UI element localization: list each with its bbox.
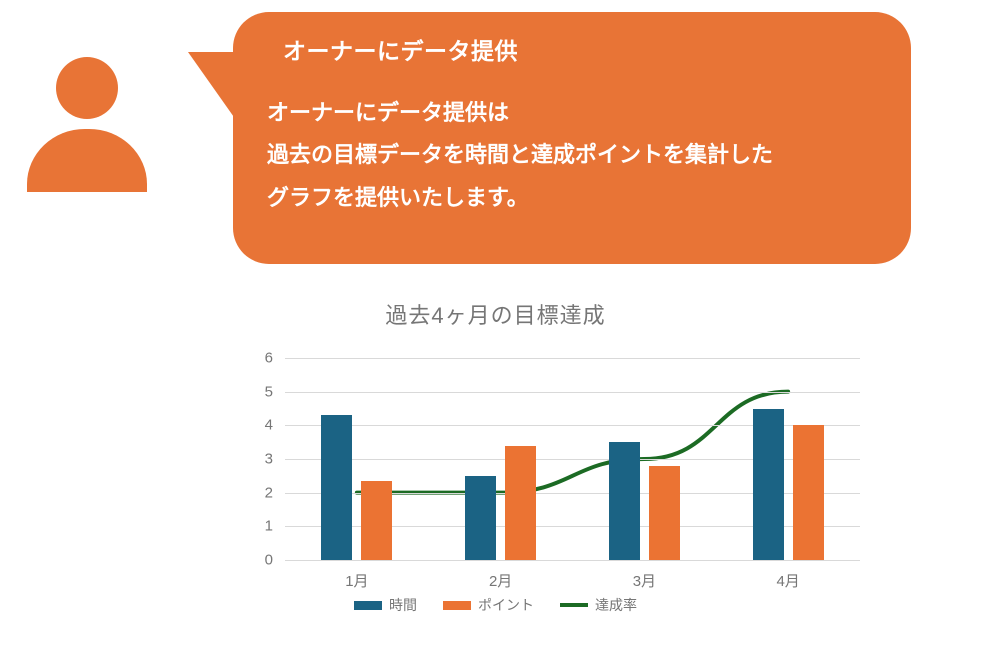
speech-bubble-tail (188, 52, 236, 120)
chart-bar (793, 425, 824, 560)
chart-gridline: 0 (285, 560, 860, 561)
chart-gridline: 5 (285, 392, 860, 393)
legend-item[interactable]: 時間 (354, 595, 417, 615)
y-axis-tick-label: 6 (265, 350, 273, 367)
speech-bubble: オーナーにデータ提供 オーナーにデータ提供は 過去の目標データを時間と達成ポイン… (233, 12, 911, 264)
speech-bubble-body-line: オーナーにデータ提供は (267, 92, 877, 135)
chart-bar (753, 409, 784, 561)
chart-bar (649, 466, 680, 560)
legend-item[interactable]: ポイント (443, 595, 534, 615)
chart-bar (361, 481, 392, 560)
chart-bar (465, 476, 496, 560)
speech-bubble-body-line: グラフを提供いたします。 (267, 177, 877, 220)
x-axis-tick-label: 1月 (345, 570, 368, 591)
chart-bar (321, 415, 352, 560)
chart-bar (609, 442, 640, 560)
legend-swatch-icon (354, 601, 382, 610)
x-axis-tick-label: 3月 (633, 570, 656, 591)
y-axis-tick-label: 3 (265, 451, 273, 468)
legend-label: ポイント (478, 595, 534, 615)
legend-swatch-icon (560, 603, 588, 607)
goal-achievement-chart: 過去4ヶ月の目標達成 01234561月2月3月4月 時間ポイント達成率 (0, 290, 991, 655)
chart-legend: 時間ポイント達成率 (0, 595, 991, 615)
chart-gridline: 6 (285, 358, 860, 359)
y-axis-tick-label: 2 (265, 484, 273, 501)
chart-line-path (357, 392, 788, 493)
x-axis-tick-label: 4月 (776, 570, 799, 591)
y-axis-tick-label: 1 (265, 518, 273, 535)
speech-bubble-body: オーナーにデータ提供は 過去の目標データを時間と達成ポイントを集計した グラフを… (267, 92, 877, 221)
person-body-icon (27, 129, 147, 192)
y-axis-tick-label: 4 (265, 417, 273, 434)
y-axis-tick-label: 5 (265, 383, 273, 400)
speech-bubble-body-line: 過去の目標データを時間と達成ポイントを集計した (267, 134, 877, 177)
speech-bubble-title: オーナーにデータ提供 (283, 38, 877, 66)
legend-label: 達成率 (595, 595, 637, 615)
person-head-icon (56, 57, 118, 119)
legend-label: 時間 (389, 595, 417, 615)
chart-plot-area: 01234561月2月3月4月 (285, 358, 860, 560)
chart-bar (505, 446, 536, 560)
y-axis-tick-label: 0 (265, 552, 273, 569)
x-axis-tick-label: 2月 (489, 570, 512, 591)
legend-item[interactable]: 達成率 (560, 595, 637, 615)
legend-swatch-icon (443, 601, 471, 610)
person-avatar-icon (27, 57, 147, 192)
chart-title: 過去4ヶ月の目標達成 (0, 298, 991, 330)
